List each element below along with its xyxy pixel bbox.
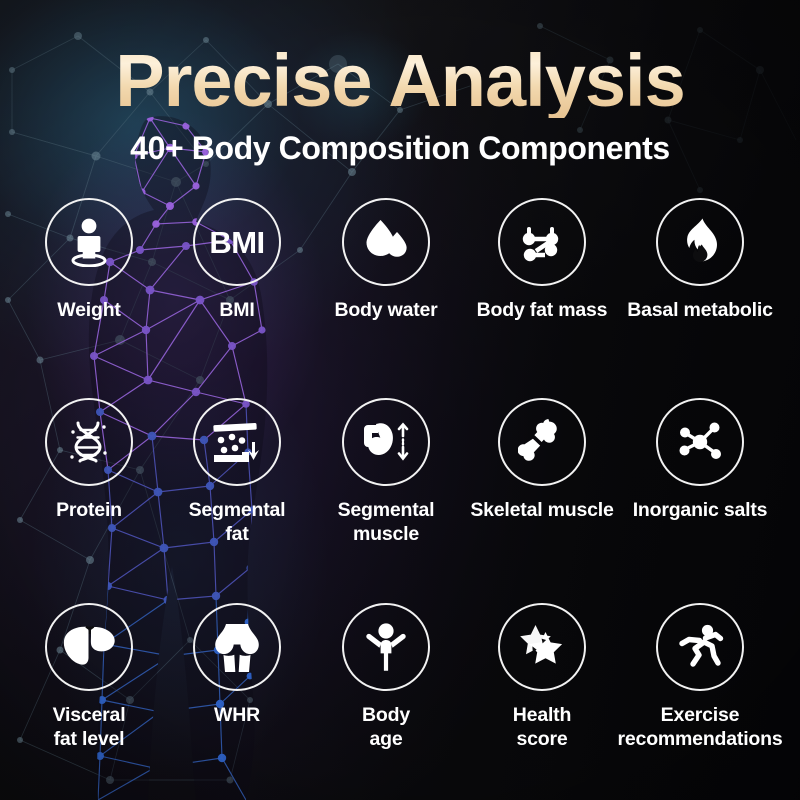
grid-item-label: Protein xyxy=(14,499,164,523)
grid-item-label: Segmental fat xyxy=(162,499,312,547)
liver-icon xyxy=(45,603,133,691)
running-figure-icon xyxy=(656,603,744,691)
double-star-icon xyxy=(498,603,586,691)
grid-item-segmental-fat[interactable]: Segmental fat xyxy=(162,390,312,547)
grid-item-label: Body water xyxy=(311,299,461,323)
grid-item-label: Segmental muscle xyxy=(311,499,461,547)
grid-item-label: Body age xyxy=(311,704,461,752)
molecule-cluster-icon xyxy=(656,398,744,486)
grid-item-weight[interactable]: Weight xyxy=(14,190,164,323)
grid-item-health-score[interactable]: Health score xyxy=(467,595,617,752)
grid-item-label: Weight xyxy=(14,299,164,323)
grid-item-label: Body fat mass xyxy=(467,299,617,323)
grid-item-label: WHR xyxy=(162,704,312,728)
grid-item-label: BMI xyxy=(162,299,312,323)
grid-item-label: Basal metabolic xyxy=(625,299,775,323)
grid-item-visceral-fat-level[interactable]: Visceral fat level xyxy=(14,595,164,752)
grid-item-exercise-recommendations[interactable]: Exercise recommendations xyxy=(625,595,775,752)
bone-joint-icon xyxy=(498,398,586,486)
bicep-arrows-icon xyxy=(342,398,430,486)
grid-item-skeletal-muscle[interactable]: Skeletal muscle xyxy=(467,390,617,523)
grid-row-3: Visceral fat level WHR xyxy=(0,595,800,800)
grid-item-bmi[interactable]: BMI BMI xyxy=(162,190,312,323)
hips-waist-icon xyxy=(193,603,281,691)
page-subtitle: 40+ Body Composition Components xyxy=(0,118,800,167)
component-grid: Weight BMI BMI Body water xyxy=(0,190,800,800)
grid-row-1: Weight BMI BMI Body water xyxy=(0,190,800,390)
grid-item-body-age[interactable]: Body age xyxy=(311,595,461,752)
person-on-scale-icon xyxy=(45,198,133,286)
water-droplets-icon xyxy=(342,198,430,286)
grid-item-basal-metabolic[interactable]: Basal metabolic xyxy=(625,190,775,323)
grid-item-protein[interactable]: Protein xyxy=(14,390,164,523)
grid-item-label: Exercise recommendations xyxy=(614,704,786,752)
grid-item-label: Skeletal muscle xyxy=(467,499,617,523)
dna-helix-icon xyxy=(45,398,133,486)
bmi-text-icon: BMI xyxy=(193,198,281,286)
grid-item-label: Inorganic salts xyxy=(625,499,775,523)
poster-canvas: Precise Analysis 40+ Body Composition Co… xyxy=(0,0,800,800)
fat-layer-arrow-icon xyxy=(193,398,281,486)
grid-item-label: Health score xyxy=(467,704,617,752)
grid-item-inorganic-salts[interactable]: Inorganic salts xyxy=(625,390,775,523)
bmi-icon-text: BMI xyxy=(209,227,264,258)
molecule-chain-icon xyxy=(498,198,586,286)
grid-item-label: Visceral fat level xyxy=(14,704,164,752)
header: Precise Analysis 40+ Body Composition Co… xyxy=(0,0,800,167)
page-title: Precise Analysis xyxy=(0,0,800,118)
child-figure-icon xyxy=(342,603,430,691)
grid-item-body-fat-mass[interactable]: Body fat mass xyxy=(467,190,617,323)
grid-row-2: Protein Segmental fat xyxy=(0,390,800,595)
grid-item-segmental-muscle[interactable]: Segmental muscle xyxy=(311,390,461,547)
grid-item-body-water[interactable]: Body water xyxy=(311,190,461,323)
grid-item-whr[interactable]: WHR xyxy=(162,595,312,728)
flame-icon xyxy=(656,198,744,286)
